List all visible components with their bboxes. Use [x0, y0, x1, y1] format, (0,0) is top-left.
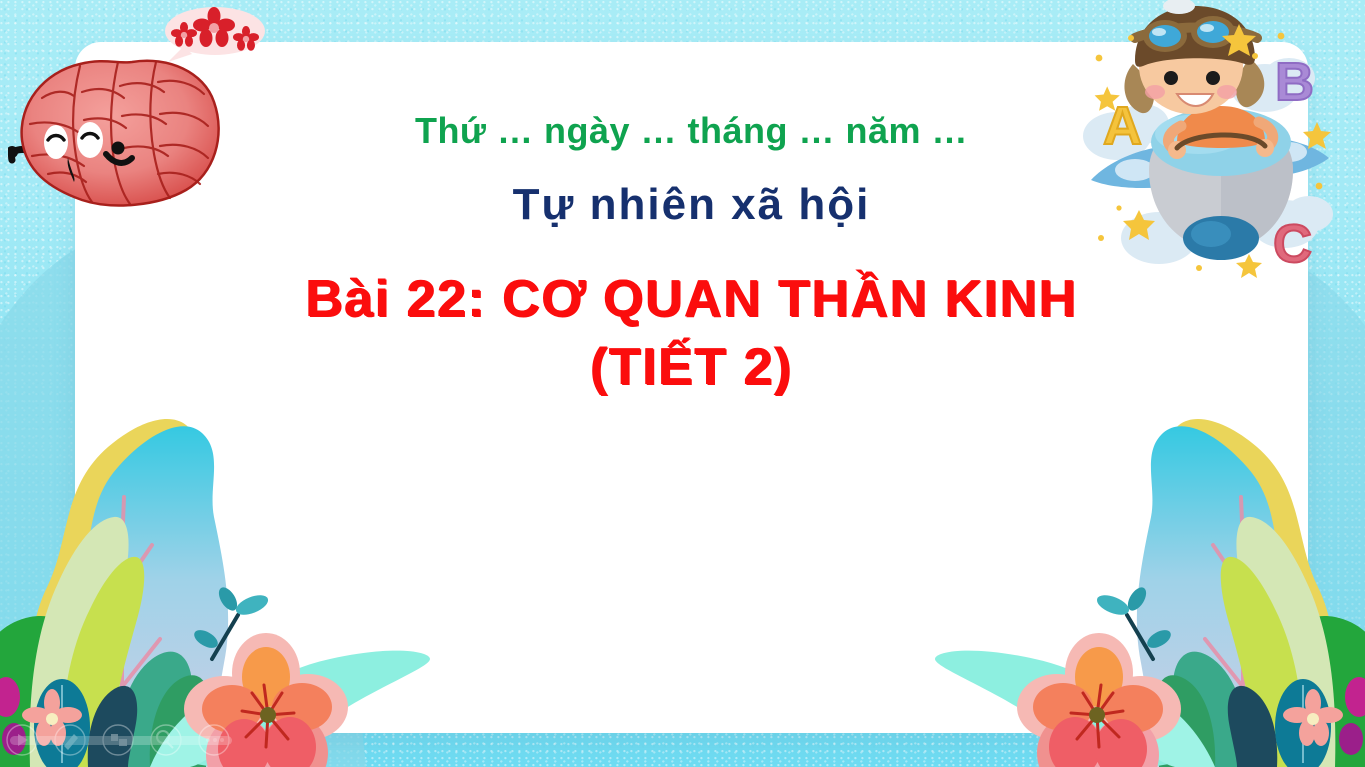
flower-speech-bubble-icon: [158, 4, 268, 66]
dot-2: [213, 738, 217, 742]
kid-eye-left: [1164, 71, 1178, 85]
letter-b-icon: B: [1275, 52, 1314, 112]
slide-canvas: A B C Thứ … ngày … tháng … năm … Tự nhiê…: [0, 0, 1365, 767]
foliage-left: [0, 367, 430, 767]
brain-eye-right: [77, 122, 103, 158]
layout-icon-a: [111, 734, 118, 741]
brain-eye-left: [44, 125, 68, 159]
kid-in-airplane-icon: A B C: [1073, 0, 1363, 290]
layout-icon-b: [119, 739, 127, 746]
presentation-player-bar[interactable]: [0, 719, 250, 761]
kid-eye-right: [1206, 71, 1220, 85]
dot-1: [206, 738, 210, 742]
dot-3: [220, 738, 224, 742]
foliage-right: [935, 367, 1365, 767]
letter-c-icon: C: [1273, 214, 1312, 274]
